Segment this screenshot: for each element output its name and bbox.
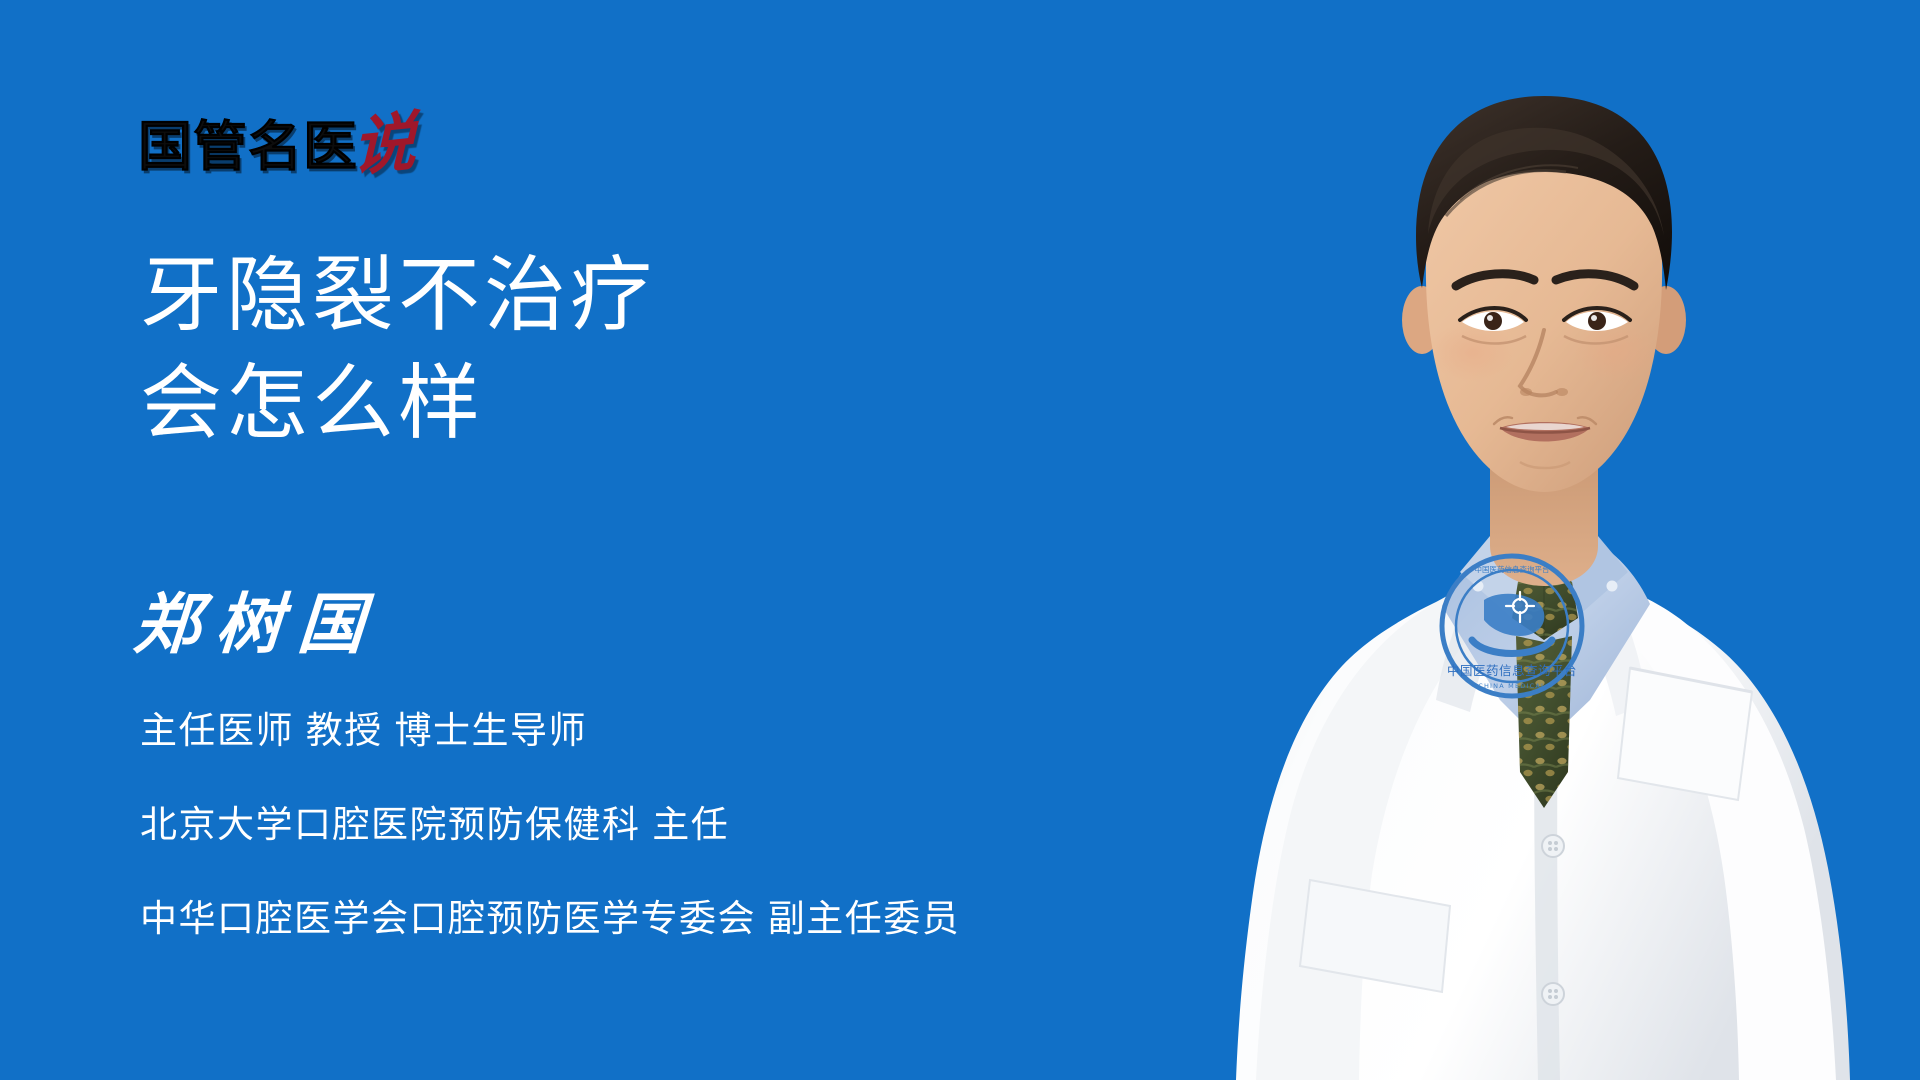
credential-line-2: 北京大学口腔医院预防保健科 主任 (140, 806, 960, 843)
brand-logo: 国管名医 说 (138, 98, 416, 174)
headline-line-2: 会怎么样 (140, 350, 656, 458)
headline: 牙隐裂不治疗 会怎么样 (140, 242, 656, 458)
headline-line-1: 牙隐裂不治疗 (140, 242, 656, 350)
coat-button (1542, 835, 1564, 857)
text-column: 国管名医 说 牙隐裂不治疗 会怎么样 郑树国 主任医师 教授 博士生导师 北京大… (0, 0, 1180, 1080)
doctor-portrait: 中国医药信息查询平台 CHINA MEDICAL 中国医药信息查询平台 (1160, 0, 1920, 1080)
credential-line-1: 主任医师 教授 博士生导师 (140, 712, 960, 749)
poster-canvas: 国管名医 说 牙隐裂不治疗 会怎么样 郑树国 主任医师 教授 博士生导师 北京大… (0, 0, 1920, 1080)
svg-text:CHINA MEDICAL: CHINA MEDICAL (1478, 682, 1546, 690)
doctor-credentials: 主任医师 教授 博士生导师 北京大学口腔医院预防保健科 主任 中华口腔医学会口腔… (140, 712, 960, 937)
doctor-head (1402, 96, 1686, 492)
coat-badge-seal-icon: 中国医药信息查询平台 CHINA MEDICAL (1434, 548, 1590, 704)
credential-line-3: 中华口腔医学会口腔预防医学专委会 副主任委员 (140, 900, 960, 937)
doctor-portrait-illustration (1160, 0, 1920, 1080)
svg-text:中国医药信息查询平台: 中国医药信息查询平台 (1475, 564, 1550, 574)
doctor-name: 郑树国 (131, 588, 382, 661)
brand-logo-main-text: 国管名医 (138, 120, 358, 174)
brand-logo-accent-text: 说 (352, 112, 416, 180)
coat-button (1542, 983, 1564, 1005)
